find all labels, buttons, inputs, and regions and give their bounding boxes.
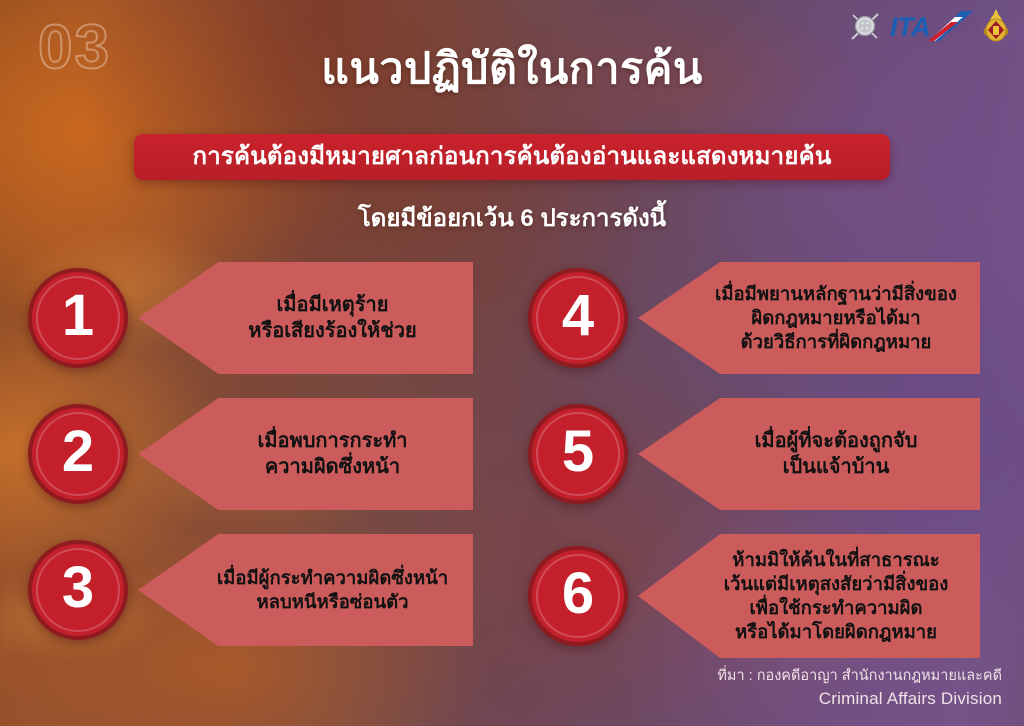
exception-text-line: หรือได้มาโดยผิดกฎหมาย [704,620,968,644]
exception-text-line: เมื่อมีเหตุร้าย [204,292,461,318]
exception-text-1: เมื่อมีเหตุร้าย หรือเสียงร้องให้ช่วย [138,292,473,345]
exception-text-4: เมื่อมีพยานหลักฐานว่ามีสิ่งของ ผิดกฎหมาย… [638,282,980,354]
exception-text-line: เมื่อมีผู้กระทำความผิดซึ่งหน้า [204,566,461,590]
footer-credit: ที่มา : กองคดีอาญา สำนักงานกฎหมายและคดี … [717,666,1002,712]
exception-text-line: ความผิดซึ่งหน้า [204,454,461,480]
exception-text-line: เมื่อมีพยานหลักฐานว่ามีสิ่งของ [704,282,968,306]
mace-emblem-icon [848,8,882,44]
exception-number-1: 1 [62,287,94,345]
infographic-canvas: 03 แนวปฏิบัติในการค้น ITA [0,0,1024,726]
exception-text-6: ห้ามมิให้ค้นในที่สาธารณะ เว้นแต่มีเหตุสง… [638,548,980,644]
exception-text-line: เมื่อพบการกระทำ [204,428,461,454]
exception-number-badge-5: 5 [528,404,628,504]
exception-text-2: เมื่อพบการกระทำ ความผิดซึ่งหน้า [138,428,473,481]
exception-text-line: เว้นแต่มีเหตุสงสัยว่ามีสิ่งของ [704,572,968,596]
exception-number-3: 3 [62,559,94,617]
exception-number-6: 6 [562,565,594,623]
exception-text-line: หรือเสียงร้องให้ช่วย [204,318,461,344]
royal-garuda-emblem-icon [982,8,1010,44]
svg-text:ITA: ITA [890,12,930,42]
exception-text-5: เมื่อผู้ที่จะต้องถูกจับ เป็นแจ้าบ้าน [638,428,980,481]
ita-logo-icon: ITA [889,8,975,44]
exception-text-line: เพื่อใช้กระทำความผิด [704,596,968,620]
exception-text-line: ห้ามมิให้ค้นในที่สาธารณะ [704,548,968,572]
exception-text-line: หลบหนีหรือซ่อนตัว [204,590,461,614]
exception-number-badge-1: 1 [28,268,128,368]
exception-number-2: 2 [62,423,94,481]
exception-text-line: เป็นแจ้าบ้าน [704,454,968,480]
footer-english: Criminal Affairs Division [717,687,1002,712]
rule-banner-text: การค้นต้องมีหมายศาลก่อนการค้นต้องอ่านและ… [193,145,832,169]
exception-text-3: เมื่อมีผู้กระทำความผิดซึ่งหน้า หลบหนีหรื… [138,566,473,614]
exception-number-badge-4: 4 [528,268,628,368]
logo-bar: ITA [848,6,1010,46]
footer-source: ที่มา : กองคดีอาญา สำนักงานกฎหมายและคดี [717,666,1002,687]
exception-number-5: 5 [562,423,594,481]
exception-number-badge-3: 3 [28,540,128,640]
exception-text-line: เมื่อผู้ที่จะต้องถูกจับ [704,428,968,454]
rule-banner: การค้นต้องมีหมายศาลก่อนการค้นต้องอ่านและ… [134,134,890,180]
exception-text-line: ด้วยวิธีการที่ผิดกฎหมาย [704,330,968,354]
exception-number-badge-6: 6 [528,546,628,646]
exception-number-badge-2: 2 [28,404,128,504]
exception-number-4: 4 [562,287,594,345]
exceptions-subtitle: โดยมีข้อยกเว้น 6 ประการดังนี้ [0,198,1024,237]
exception-text-line: ผิดกฎหมายหรือได้มา [704,306,968,330]
